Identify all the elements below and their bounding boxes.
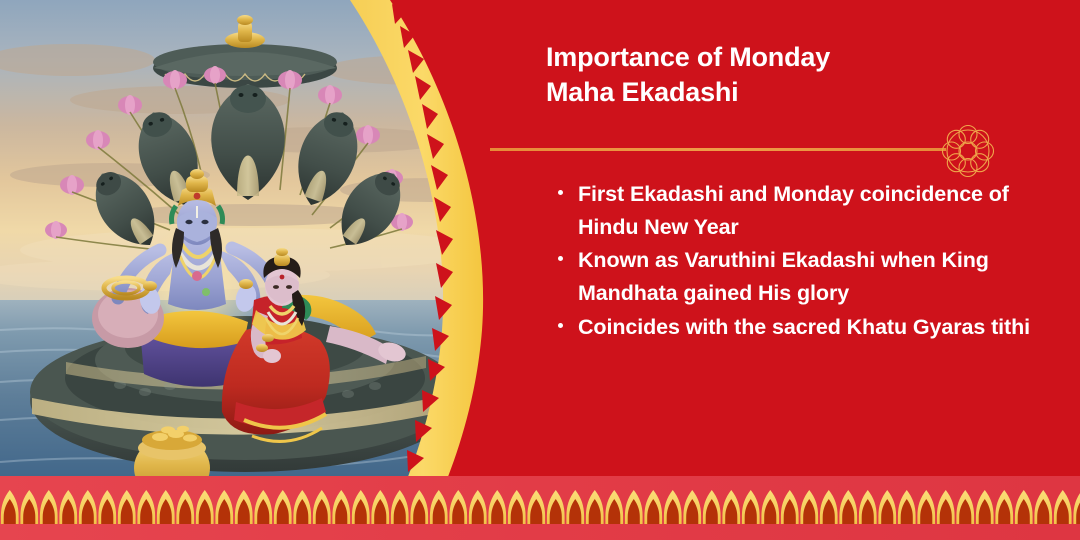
- list-item-text: First Ekadashi and Monday coincidence of…: [578, 182, 1009, 239]
- bullet-dot-icon: [558, 256, 563, 261]
- list-item: First Ekadashi and Monday coincidence of…: [552, 178, 1040, 243]
- vishnu-lakshmi-shesha-illustration: [0, 0, 500, 540]
- bullet-dot-icon: [558, 323, 563, 328]
- content-panel: Importance of Monday Maha Ekadashi: [546, 0, 1046, 540]
- list-item: Coincides with the sacred Khatu Gyaras t…: [552, 311, 1040, 344]
- bullet-dot-icon: [558, 190, 563, 195]
- divider: [490, 143, 1002, 157]
- list-item-text: Coincides with the sacred Khatu Gyaras t…: [578, 315, 1030, 339]
- infographic-card: Importance of Monday Maha Ekadashi: [0, 0, 1080, 540]
- title-line-1: Importance of Monday: [546, 40, 966, 75]
- illustration-panel: [0, 0, 500, 540]
- list-item-text: Known as Varuthini Ekadashi when King Ma…: [578, 248, 989, 305]
- page-title: Importance of Monday Maha Ekadashi: [546, 40, 966, 109]
- list-item: Known as Varuthini Ekadashi when King Ma…: [552, 244, 1040, 309]
- title-line-2: Maha Ekadashi: [546, 75, 966, 110]
- mandala-rosette-icon: [940, 123, 996, 179]
- bullet-list: First Ekadashi and Monday coincidence of…: [552, 178, 1040, 344]
- divider-line: [490, 148, 946, 151]
